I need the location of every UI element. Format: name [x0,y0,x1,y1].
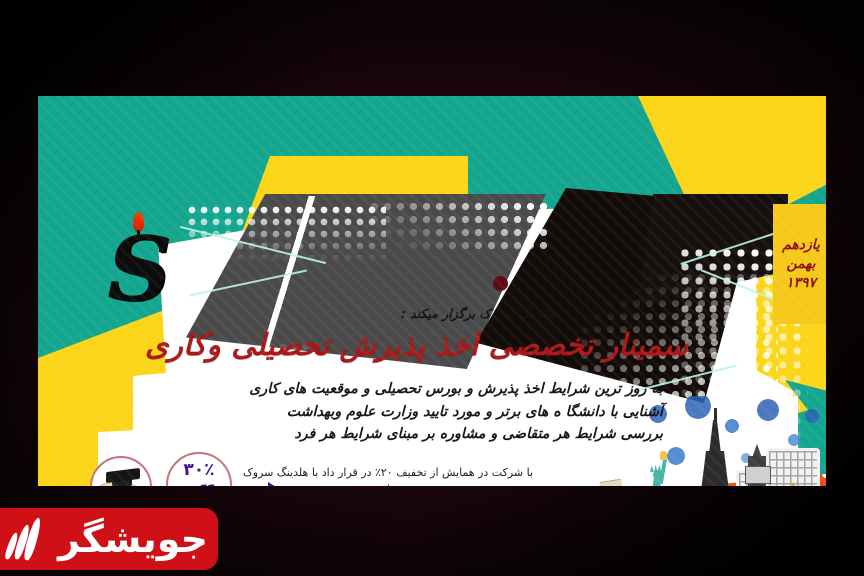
feature-bullets: به روز ترین شرایط اخذ پذیرش و بورس تحصیل… [151,378,663,446]
watermark-text: جویشگر [58,517,218,561]
page-title: سمینار تخصصی اخذ پذیرش تحصیلی وکاری [98,328,688,363]
leaning-tower-of-pisa-icon [599,479,630,486]
poster-canvas: S [0,0,864,576]
wick-icon [137,230,140,239]
bullet-line: بررسی شرایط هر متقاضی و مشاوره بر مبنای … [151,423,663,446]
red-dot-accent [493,276,508,291]
swoosh-icon [2,516,54,562]
skyscraper-icon [766,448,820,486]
arrow-icon [228,478,290,486]
bullet-line: آشنایی با دانشگا ه های برتر و مورد تایید… [151,401,663,424]
brand-monogram: S [93,208,185,316]
bullet-line: به روز ترین شرایط اخذ پذیرش و بورس تحصیل… [151,378,663,401]
eiffel-tower-icon [684,410,746,486]
date-month: بهمن [786,256,815,272]
discount-percent: ۳۰٪ [170,460,228,480]
monogram-letter: S [93,226,185,318]
big-ben-icon [748,456,766,486]
discount-off-label: off [170,481,228,486]
date-day: یازدهم [782,237,820,253]
statue-of-liberty-icon [634,446,680,486]
event-date-text: یازدهم بهمن ۱۳۹۷ [773,204,826,324]
event-banner: S [38,96,826,486]
flame-icon [133,212,144,232]
graduation-cap-icon [100,468,144,486]
organizer-kicker: هلدینگ سروک برگزار میکند : [401,306,554,321]
date-year: ۱۳۹۷ [786,275,816,291]
site-watermark-logo[interactable]: جویشگر [0,508,218,570]
